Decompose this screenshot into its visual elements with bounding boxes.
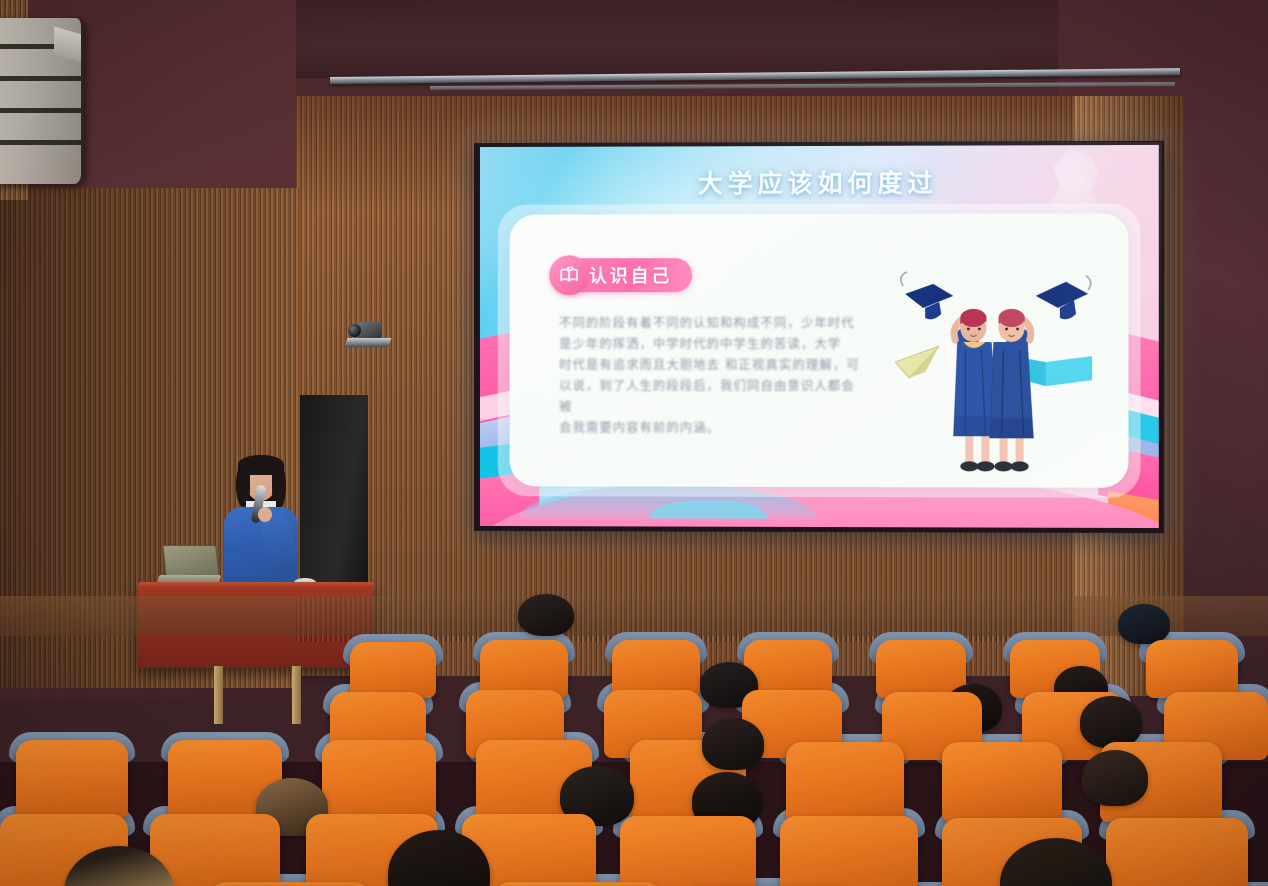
audience-seating: 10 13 50 [0, 600, 1268, 886]
camera-lens-icon [348, 324, 361, 337]
seat[interactable] [322, 740, 436, 820]
section-badge: 认识自己 [555, 258, 692, 292]
section-badge-label: 认识自己 [589, 262, 672, 288]
lecture-hall-photo: 大学应该如何度过 认识自己 不同的阶段有 [0, 0, 1268, 886]
seat[interactable] [16, 740, 128, 818]
presenter [218, 455, 304, 595]
graduation-cap-right [1036, 276, 1091, 320]
graduation-cap-left [901, 272, 953, 319]
body-line: 不同的阶段有着不同的认知和构成不同，少年时代 [559, 312, 868, 333]
laptop [162, 545, 219, 577]
body-line: 是少年的挥洒，中学时代的中学生的苦读，大学 [559, 333, 868, 354]
seat[interactable] [780, 816, 918, 886]
audience-head [1118, 604, 1170, 644]
seat[interactable] [210, 882, 370, 886]
presentation-slide: 大学应该如何度过 认识自己 不同的阶段有 [480, 145, 1159, 528]
audience-head [1080, 696, 1142, 748]
projection-screen: 大学应该如何度过 认识自己 不同的阶段有 [474, 141, 1164, 533]
slide-title: 大学应该如何度过 [480, 163, 1159, 201]
slide-body-text: 不同的阶段有着不同的认知和构成不同，少年时代 是少年的挥洒，中学时代的中学生的苦… [559, 312, 868, 438]
seat[interactable] [350, 642, 436, 698]
audience-head [518, 594, 574, 636]
audience-head [1082, 750, 1148, 806]
body-line: 以说，到了人生的段段后，我们同自由意识人都会被 [559, 375, 868, 417]
open-book-icon [549, 255, 589, 295]
seat[interactable] [1146, 640, 1238, 698]
seat[interactable] [942, 742, 1062, 822]
graduate-right [989, 309, 1033, 472]
wall-camera [346, 322, 390, 350]
paper-plane-icon [895, 346, 939, 378]
body-line: 时代是有追求而且大胆地去 和正视真实的理解，可 [559, 354, 868, 375]
audience-head [702, 718, 764, 770]
seat[interactable]: 50 [494, 882, 662, 886]
open-book-decor [1024, 356, 1093, 386]
two-graduates-illustration [895, 266, 1096, 477]
body-line: 会我需要内容有前的内涵。 [559, 417, 868, 438]
speaker-mount-bracket [54, 27, 84, 66]
seat[interactable] [620, 816, 756, 886]
seat[interactable] [786, 742, 904, 822]
seat[interactable]: 13 [1106, 818, 1248, 886]
wall-speaker [0, 18, 84, 184]
